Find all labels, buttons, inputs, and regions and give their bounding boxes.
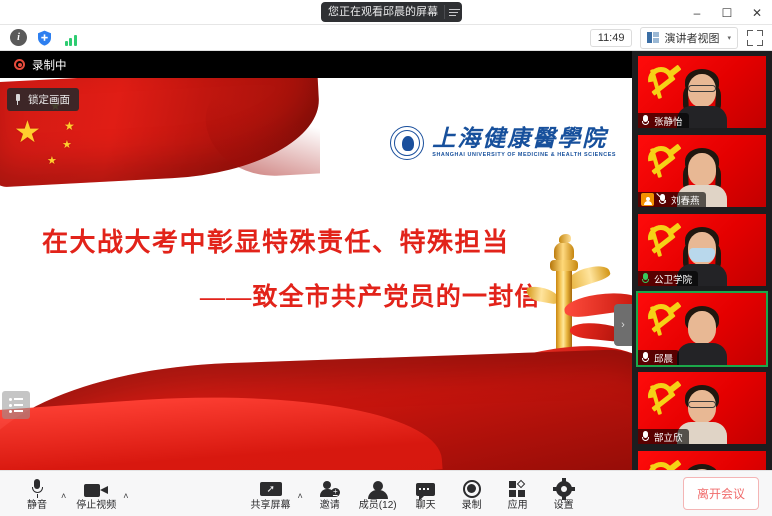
participants-label: 成员(12) bbox=[359, 501, 397, 511]
meeting-clock: 11:49 bbox=[590, 29, 633, 47]
share-options-caret-icon[interactable]: ˄ bbox=[297, 491, 307, 513]
toolbar-left-group: i bbox=[0, 29, 79, 46]
mute-button[interactable]: 静音 bbox=[14, 475, 60, 513]
video-options-caret-icon[interactable]: ˄ bbox=[122, 491, 132, 513]
participant-name-bar: 公卫学院 bbox=[638, 271, 698, 286]
participant-tile-active-speaker[interactable]: 邱晨 bbox=[636, 291, 768, 367]
participant-name-bar: 邱晨 bbox=[638, 350, 679, 365]
participant-name: 公卫学院 bbox=[654, 272, 692, 286]
apps-label: 应用 bbox=[508, 501, 528, 511]
settings-button[interactable]: 设置 bbox=[541, 475, 587, 513]
shield-icon[interactable] bbox=[36, 29, 53, 46]
chat-label: 聊天 bbox=[416, 501, 436, 511]
participant-name: 郜立欣 bbox=[654, 430, 683, 444]
participant-name: 张静怡 bbox=[654, 114, 683, 128]
leave-meeting-button[interactable]: 离开会议 bbox=[683, 477, 759, 510]
participant-tile[interactable]: ▾ bbox=[636, 449, 768, 470]
settings-label: 设置 bbox=[554, 501, 574, 511]
shared-screen-stage: 录制中 锁定画面 ★ ★ ★ ★ ★ 上海健康醫學院 SHANGHAI UNIV… bbox=[0, 51, 632, 470]
layout-speaker-view-icon bbox=[647, 32, 659, 43]
invite-button[interactable]: + 邀请 bbox=[307, 475, 353, 513]
meeting-controls-bar: 静音 ˄ 停止视频 ˄ ➚ 共享屏幕 ˄ + 邀请 成员(12) bbox=[0, 470, 772, 516]
flag-star-small-3: ★ bbox=[62, 140, 72, 151]
share-screen-label: 共享屏幕 bbox=[251, 501, 291, 511]
fullscreen-icon[interactable] bbox=[746, 29, 764, 47]
chat-icon bbox=[416, 483, 435, 498]
audio-options-caret-icon[interactable]: ˄ bbox=[60, 491, 70, 513]
participant-filmstrip[interactable]: 张静怡 刘春燕 bbox=[632, 51, 772, 470]
lock-screen-button[interactable]: 锁定画面 bbox=[7, 88, 79, 111]
participants-icon bbox=[368, 481, 388, 498]
toolbar-right-group: 11:49 演讲者视图 ▾ bbox=[590, 27, 772, 49]
record-icon bbox=[463, 480, 481, 498]
recording-indicator-bar: 录制中 bbox=[0, 51, 632, 78]
invite-user-icon: + bbox=[320, 481, 340, 498]
pin-icon bbox=[13, 94, 22, 105]
watching-screen-label: 您正在观看邱晨的屏幕 bbox=[328, 2, 438, 22]
invite-label: 邀请 bbox=[320, 501, 340, 511]
participants-button[interactable]: 成员(12) bbox=[353, 475, 403, 513]
minimize-button[interactable]: – bbox=[682, 0, 712, 25]
flag-star-small-2: ★ bbox=[64, 120, 75, 132]
stop-video-button[interactable]: 停止视频 bbox=[70, 475, 122, 513]
meeting-info-toolbar: i 11:49 演讲者视图 ▾ bbox=[0, 25, 772, 51]
chevron-down-icon: ▾ bbox=[727, 34, 731, 42]
chat-button[interactable]: 聊天 bbox=[403, 475, 449, 513]
participant-name-bar: 刘春燕 bbox=[638, 192, 706, 207]
chevron-right-icon[interactable]: › bbox=[614, 304, 632, 346]
host-badge-icon bbox=[641, 193, 654, 206]
lock-screen-label: 锁定画面 bbox=[28, 92, 70, 107]
share-screen-icon: ➚ bbox=[260, 482, 282, 498]
presentation-slide: ★ ★ ★ ★ ★ 上海健康醫學院 SHANGHAI UNIVERSITY OF… bbox=[0, 78, 632, 470]
window-controls: – ☐ ✕ bbox=[682, 0, 772, 25]
participant-name: 邱晨 bbox=[654, 351, 673, 365]
title-bar: 您正在观看邱晨的屏幕 – ☐ ✕ bbox=[0, 0, 772, 25]
annotation-list-icon[interactable] bbox=[2, 391, 30, 419]
view-mode-label: 演讲者视图 bbox=[664, 30, 719, 46]
share-screen-button[interactable]: ➚ 共享屏幕 bbox=[245, 475, 297, 513]
record-label: 录制 bbox=[462, 501, 482, 511]
microphone-icon bbox=[31, 479, 44, 498]
flag-star-large: ★ bbox=[14, 118, 41, 148]
gear-icon bbox=[555, 480, 573, 498]
record-dot-icon bbox=[14, 59, 25, 70]
flag-star-small-4: ★ bbox=[47, 156, 57, 167]
maximize-button[interactable]: ☐ bbox=[712, 0, 742, 25]
view-mode-selector[interactable]: 演讲者视图 ▾ bbox=[640, 27, 738, 49]
record-button[interactable]: 录制 bbox=[449, 475, 495, 513]
camera-icon bbox=[84, 483, 108, 498]
watching-screen-tooltip[interactable]: 您正在观看邱晨的屏幕 bbox=[321, 2, 462, 22]
close-button[interactable]: ✕ bbox=[742, 0, 772, 25]
hamburger-icon[interactable] bbox=[444, 5, 455, 19]
zoom-meeting-window: 您正在观看邱晨的屏幕 – ☐ ✕ i 11:49 演讲 bbox=[0, 0, 772, 516]
participant-tile[interactable]: 公卫学院 bbox=[636, 212, 768, 288]
mic-on-icon bbox=[641, 352, 650, 363]
mic-on-icon bbox=[641, 115, 650, 126]
info-icon[interactable]: i bbox=[10, 29, 27, 46]
participant-tile[interactable]: 张静怡 bbox=[636, 54, 768, 130]
recording-label: 录制中 bbox=[32, 57, 67, 73]
apps-grid-icon bbox=[509, 481, 527, 498]
mic-active-icon bbox=[641, 273, 650, 284]
participant-tile[interactable]: 刘春燕 bbox=[636, 133, 768, 209]
mic-muted-icon bbox=[658, 194, 667, 205]
avatar bbox=[676, 463, 728, 470]
mic-on-icon bbox=[641, 431, 650, 442]
participant-name-bar: 张静怡 bbox=[638, 113, 689, 128]
university-logo: 上海健康醫學院 SHANGHAI UNIVERSITY OF MEDICINE … bbox=[390, 126, 616, 160]
mute-label: 静音 bbox=[27, 501, 47, 511]
apps-button[interactable]: 应用 bbox=[495, 475, 541, 513]
participant-name: 刘春燕 bbox=[671, 193, 700, 207]
university-name-en: SHANGHAI UNIVERSITY OF MEDICINE & HEALTH… bbox=[432, 153, 616, 158]
participant-tile[interactable]: 郜立欣 bbox=[636, 370, 768, 446]
slide-headline: 在大战大考中彰显特殊责任、特殊担当 bbox=[42, 222, 602, 259]
participant-name-bar: 郜立欣 bbox=[638, 429, 689, 444]
network-signal-icon[interactable] bbox=[62, 29, 79, 46]
stop-video-label: 停止视频 bbox=[76, 501, 116, 511]
avatar bbox=[676, 305, 728, 365]
university-name-cn: 上海健康醫學院 bbox=[432, 127, 616, 150]
university-seal-icon bbox=[390, 126, 424, 160]
